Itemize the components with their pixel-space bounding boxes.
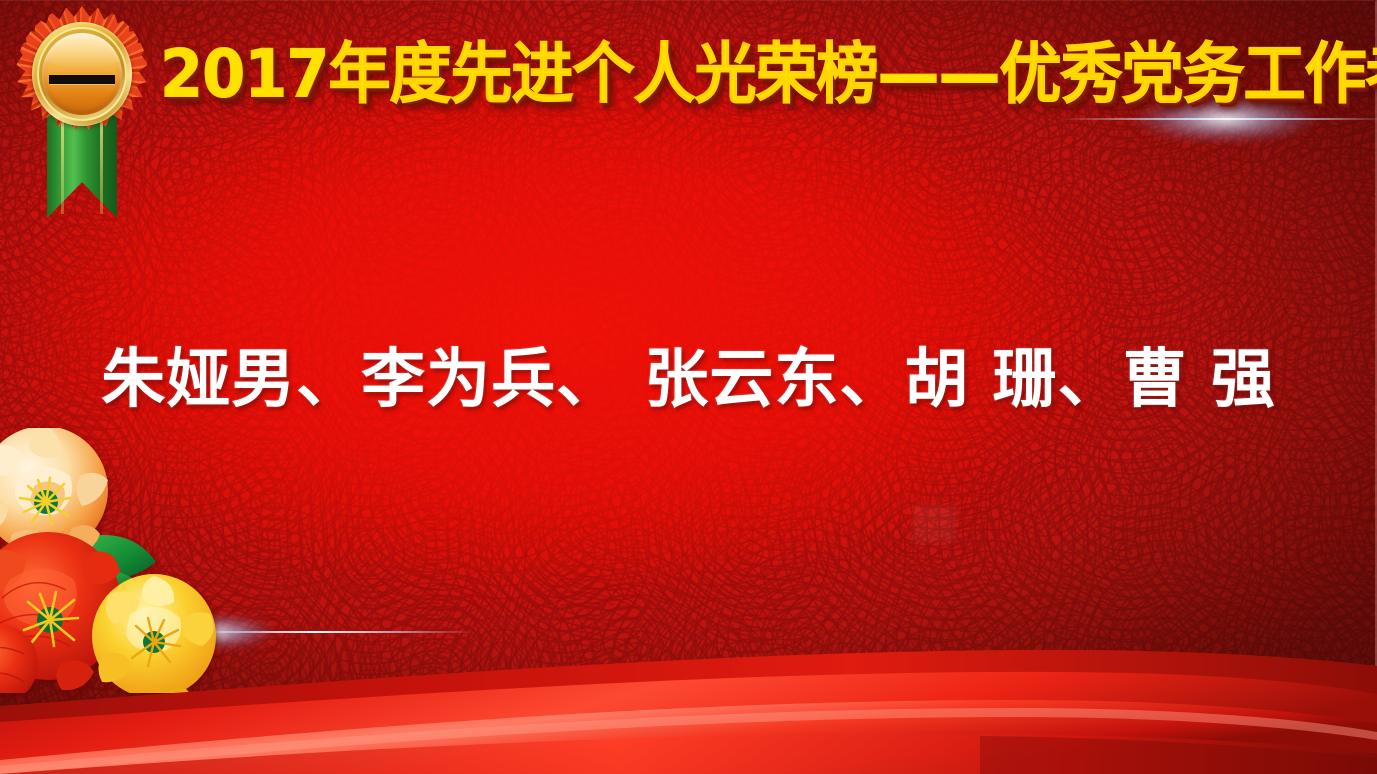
page-title: 2017年度先进个人光荣榜——优秀党务工作者 xyxy=(160,20,1377,115)
honoree-names: 朱娅男、李为兵、 张云东、胡 珊、曹 强 xyxy=(101,328,1276,420)
medal-rosette-icon xyxy=(12,2,152,146)
medal-rank-bar-icon xyxy=(49,75,115,84)
medal-face xyxy=(42,33,122,115)
award-rosette-medal-icon xyxy=(12,2,152,222)
award-slide: 2017年度先进个人光荣榜——优秀党务工作者 朱娅男、李为兵、 张云东、胡 珊、… xyxy=(0,0,1377,774)
silk-ribbon-waves-icon xyxy=(0,644,1377,774)
title-row: 2017年度先进个人光荣榜——优秀党务工作者 xyxy=(160,22,1310,114)
medal-gloss xyxy=(42,33,122,69)
honoree-names-row: 朱娅男、李为兵、 张云东、胡 珊、曹 强 xyxy=(0,318,1377,430)
